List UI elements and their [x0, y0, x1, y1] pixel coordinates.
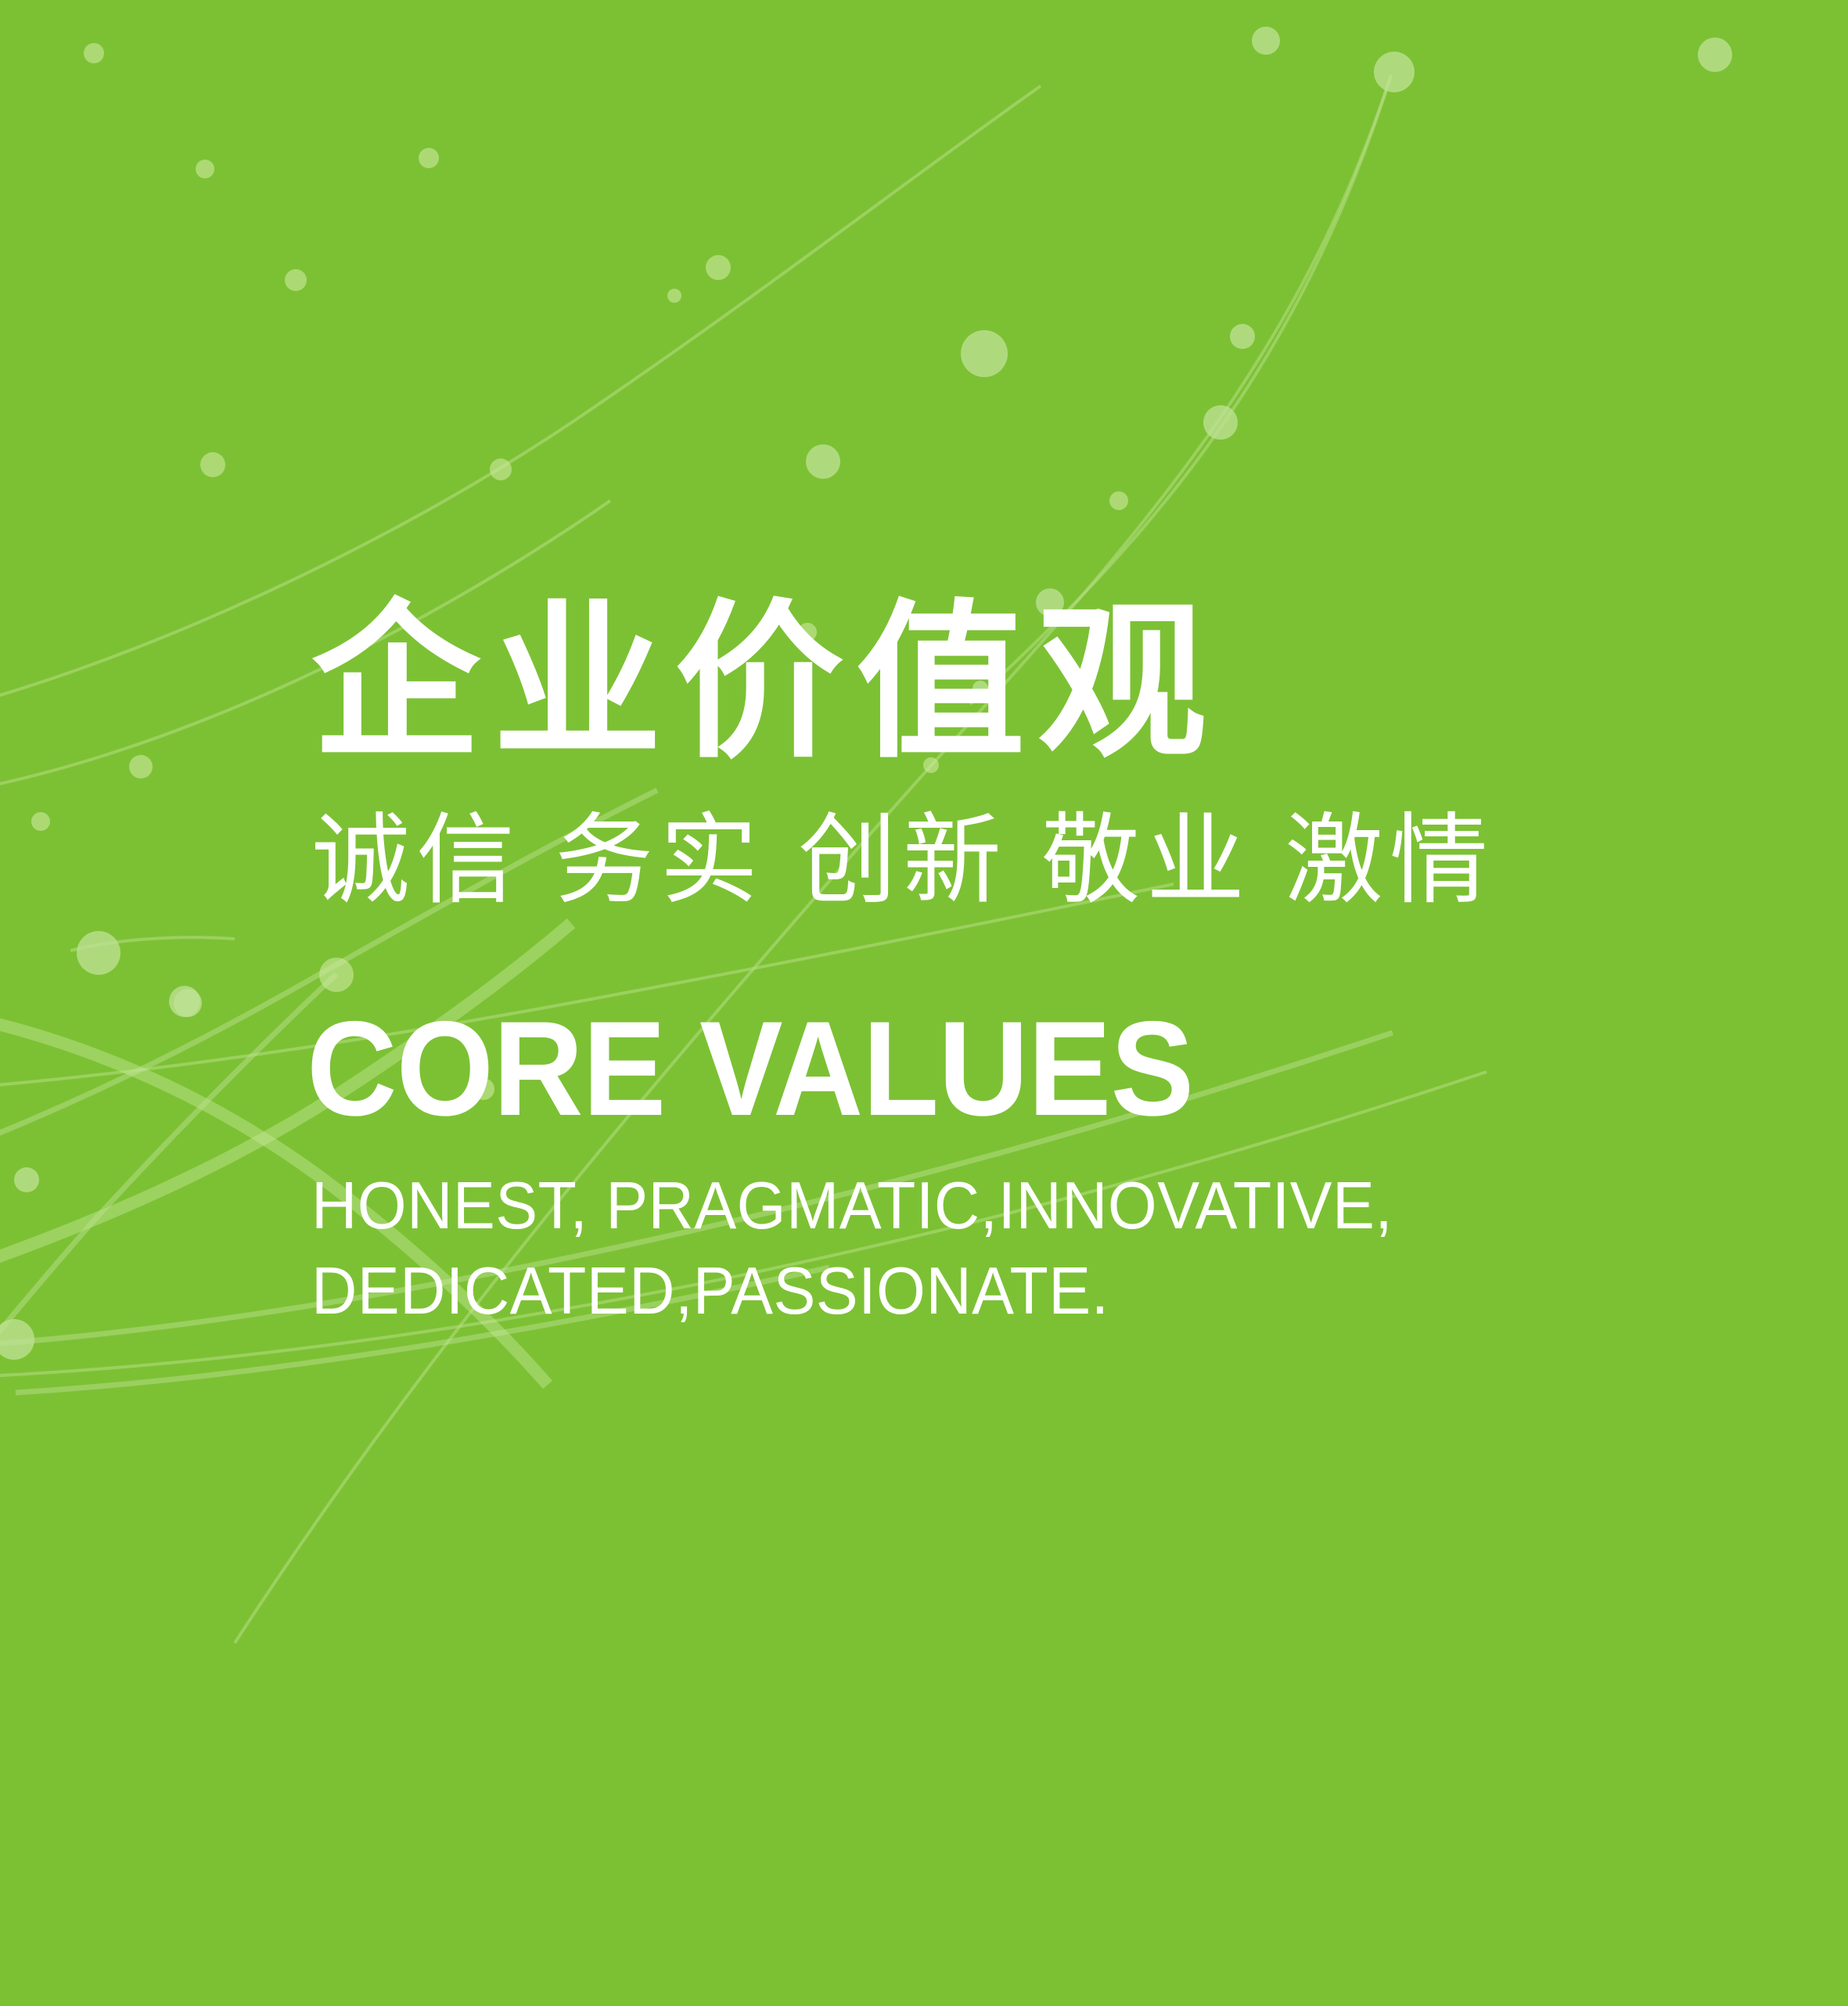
english-subtitle-line-1: HONEST, PRAGMATIC,INNOVATIVE, — [311, 1164, 1649, 1249]
page-title: 企业价值观 — [311, 595, 1720, 771]
english-subtitle-line-2: DEDICATED,PASSIONATE. — [311, 1249, 1649, 1335]
english-subtitle: HONEST, PRAGMATIC,INNOVATIVE, DEDICATED,… — [311, 1164, 1649, 1335]
banner-content: 企业价值观 诚信 务实 创新 敬业 激情 CORE VALUES HONEST,… — [311, 595, 1720, 1334]
english-title: CORE VALUES — [307, 1001, 1621, 1136]
chinese-subtitle: 诚信 务实 创新 敬业 激情 — [311, 805, 1720, 915]
core-values-banner: .ln { fill:none; stroke:#b5de84; stroke-… — [0, 0, 1848, 2006]
